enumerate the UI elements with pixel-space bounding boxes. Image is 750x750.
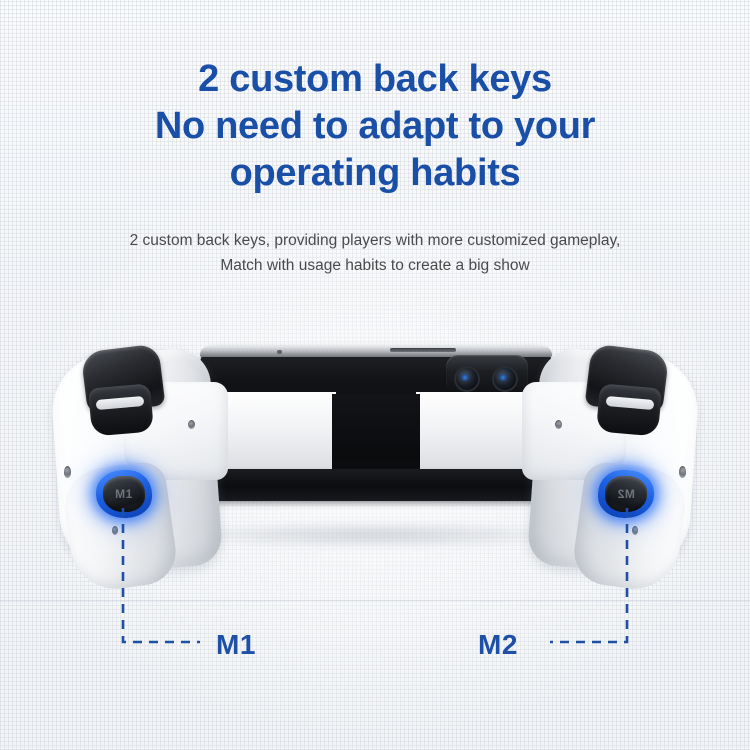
headline-line-2: No need to adapt to your (0, 103, 750, 150)
m1-cap-label: M1 (103, 476, 145, 512)
right-lower-trigger[interactable] (596, 383, 662, 436)
back-key-m2[interactable]: M2 (598, 470, 654, 518)
back-key-m1[interactable]: M1 (96, 470, 152, 518)
callout-label-m1: M1 (216, 629, 256, 661)
promo-page: 2 custom back keys No need to adapt to y… (0, 0, 750, 750)
right-lower-dimple (632, 526, 638, 535)
phone-speaker-grille (390, 348, 456, 352)
headline-block: 2 custom back keys No need to adapt to y… (0, 56, 750, 197)
left-screw-dimple (188, 420, 195, 429)
product-image: M1 M2 (0, 330, 750, 630)
phone-camera-bump (446, 355, 528, 395)
camera-lens-2-icon (492, 366, 518, 392)
camera-lens-1-icon (454, 366, 480, 392)
headline-line-1: 2 custom back keys (0, 56, 750, 103)
left-lower-dimple (112, 526, 118, 535)
m1-button-cap[interactable]: M1 (103, 476, 145, 512)
left-port-slot (64, 466, 71, 478)
m2-cap-label: M2 (605, 476, 647, 512)
subtitle-line-1: 2 custom back keys, providing players wi… (0, 228, 750, 253)
right-screw-dimple (555, 420, 562, 429)
callout-label-m2: M2 (478, 629, 518, 661)
headline-line-3: operating habits (0, 150, 750, 197)
m2-button-cap[interactable]: M2 (605, 476, 647, 512)
phone-bottom-edge (192, 469, 560, 501)
left-lower-trigger[interactable] (88, 383, 154, 436)
subtitle-block: 2 custom back keys, providing players wi… (0, 228, 750, 278)
subtitle-line-2: Match with usage habits to create a big … (0, 253, 750, 278)
controller-right-grip: M2 (526, 348, 712, 580)
controller-left-grip: M1 (38, 348, 224, 580)
phone-microphone (277, 350, 282, 354)
right-port-slot (679, 466, 686, 478)
